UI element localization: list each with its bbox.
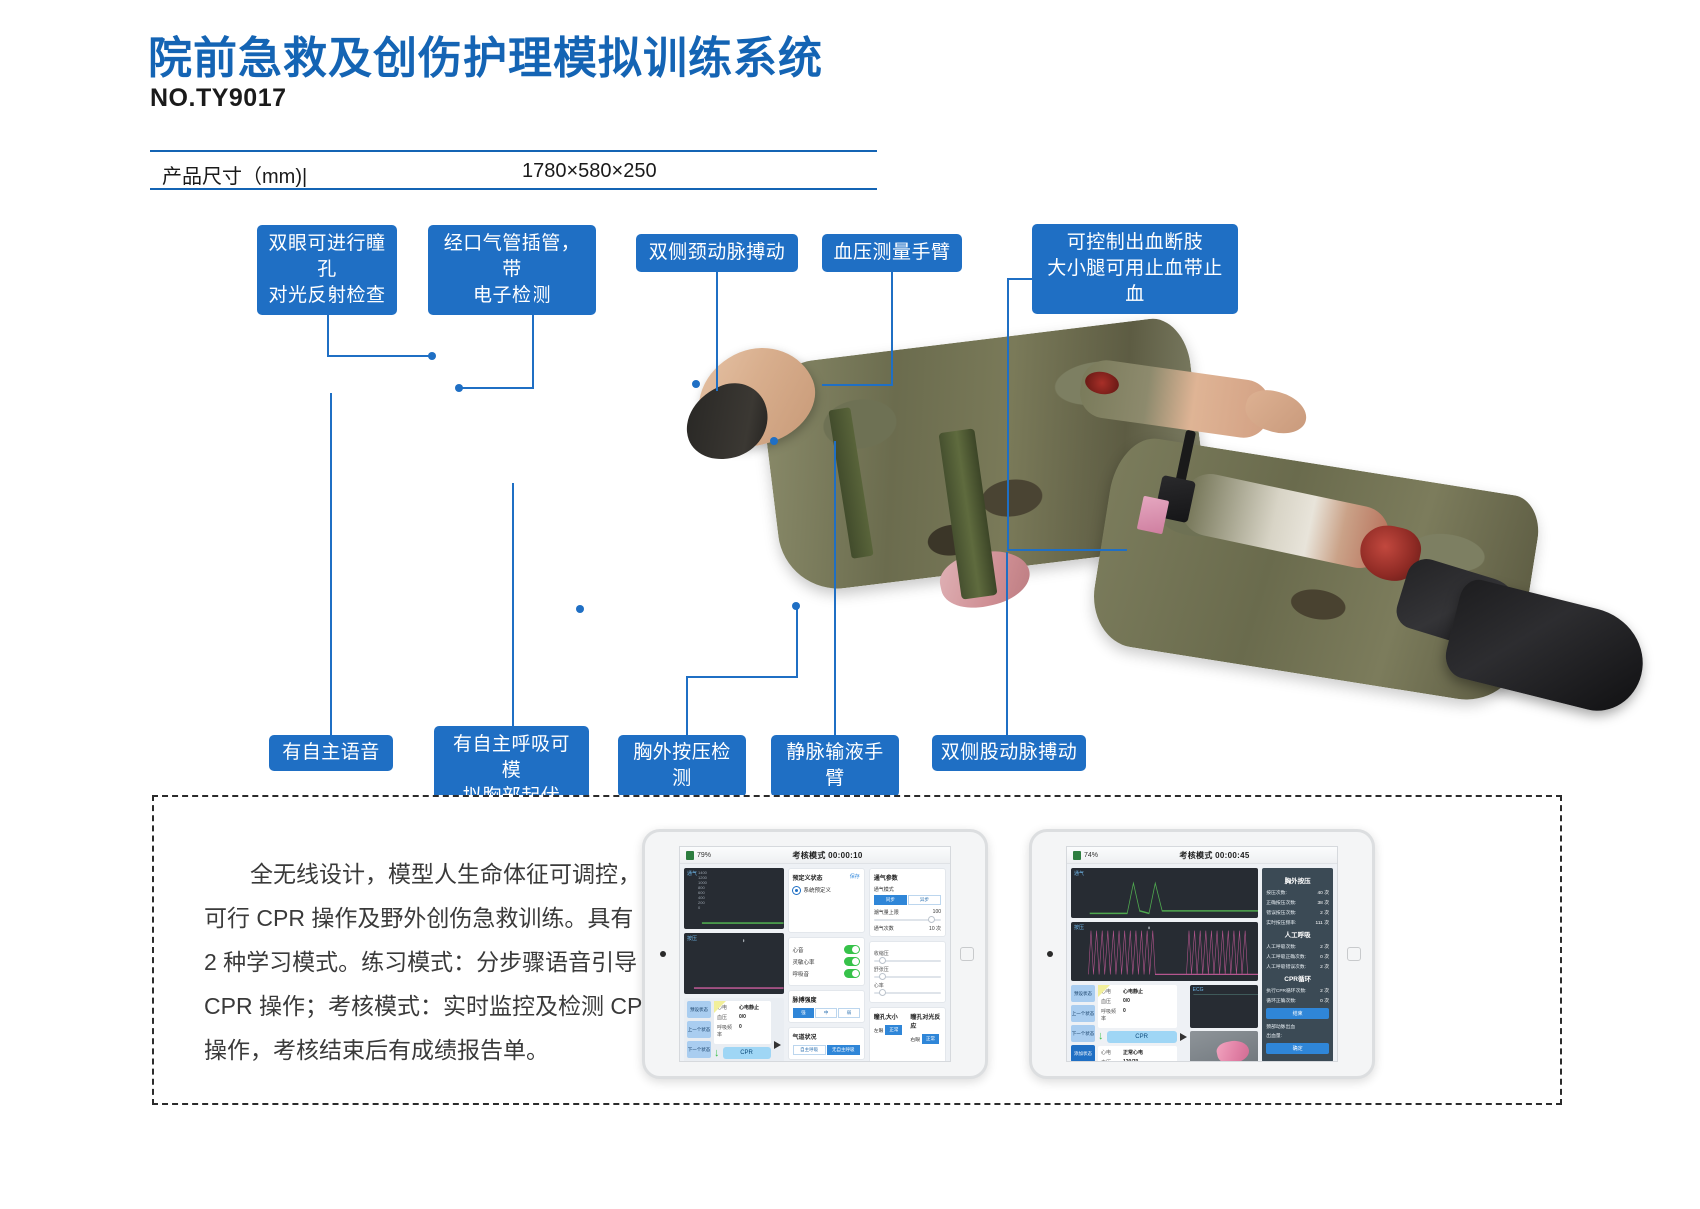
stat-breath-count-label: 人工呼吸次数: bbox=[1266, 943, 1296, 950]
card-pupil-settings: 瞳孔大小 左眼 正常 瞳孔对光反应 bbox=[869, 1007, 946, 1062]
tablet1-home-button[interactable] bbox=[960, 947, 974, 961]
radio-system-predef-label: 系统预定义 bbox=[804, 886, 832, 894]
seg-pulse-medium[interactable]: 中 bbox=[815, 1008, 837, 1018]
seg-spontaneous-breathing[interactable]: 自主呼吸 bbox=[793, 1045, 826, 1055]
pupil-right-value[interactable]: 正常 bbox=[922, 1034, 939, 1044]
leader-compression-v1 bbox=[686, 676, 688, 736]
card-bp-sliders: 收缩压 舒张压 心率 bbox=[869, 941, 946, 1003]
cpr-action-row-2: ↓ CPR bbox=[1098, 1031, 1177, 1043]
tablet1-statusbar: 79% 考核模式 00:00:10 bbox=[680, 847, 950, 864]
leader-bp-v bbox=[891, 268, 893, 386]
anchor-dot-carotid bbox=[692, 380, 700, 388]
card-airway-title: 气道状况 bbox=[793, 1032, 860, 1041]
toggle-label-hr: 灵敏心率 bbox=[793, 958, 815, 966]
anchor-dot-pupil bbox=[428, 352, 436, 360]
vital-key-bp-1: 血压 bbox=[717, 1014, 733, 1021]
stats-section2-title: 人工呼吸 bbox=[1266, 929, 1329, 939]
stat-cycle-correct-unit: 次 bbox=[1324, 999, 1329, 1004]
stat-breath-count-unit: 次 bbox=[1324, 945, 1329, 950]
card-pulse-title: 脉搏强度 bbox=[793, 995, 860, 1004]
tablet2-main-column: 通气 按压 bbox=[1071, 868, 1258, 1062]
tablet1-settings-column: 保存预定义状态 系统预定义 心音 bbox=[788, 868, 946, 1062]
desc-line-4: CPR 操作；考核模式：实时监控及检测 CPR bbox=[204, 993, 659, 1019]
spec-table: 产品尺寸（mm)| 1780×580×250 bbox=[150, 150, 877, 190]
pupil-reflex-title: 瞳孔对光反应 bbox=[910, 1012, 941, 1030]
pupil-left-label: 左眼 bbox=[874, 1027, 884, 1034]
stat-comp-wrong-unit: 次 bbox=[1324, 911, 1329, 916]
poster-page: 院前急救及创伤护理模拟训练系统 NO.TY9017 产品尺寸（mm)| 1780… bbox=[0, 0, 1700, 1209]
tablet1-panel-left: 保存预定义状态 系统预定义 心音 bbox=[788, 868, 865, 1062]
tablet1-screen[interactable]: 79% 考核模式 00:00:10 通气 1400 1200 1000 800 … bbox=[679, 846, 951, 1062]
callout-compression: 胸外按压检测 bbox=[618, 735, 746, 797]
card-ventilation-params: 通气参数 通气模式 同步 异步 潮气量上限 100 bbox=[869, 868, 946, 937]
compression-waveform-2: 按压 bbox=[1071, 922, 1258, 980]
tablet2-home-button[interactable] bbox=[1347, 947, 1361, 961]
systolic-slider-knob[interactable] bbox=[879, 957, 886, 964]
tablet1-mode-title: 考核模式 00:00:10 bbox=[711, 850, 944, 861]
ventilation-waveform-2: 通气 bbox=[1071, 868, 1258, 918]
vitals2-card-1: 心电心电静止 血压0/0 呼吸频率0 bbox=[1098, 985, 1177, 1028]
leader-compression-v2 bbox=[796, 605, 798, 677]
cpr-stats-panel: 胸外按压 按压次数:40 次 正确按压次数:38 次 错误按压次数:2 次 实时… bbox=[1262, 868, 1333, 1062]
vent-mode-label: 通气模式 bbox=[874, 886, 941, 893]
vent-rate-label: 通气次数 bbox=[874, 925, 894, 932]
tablet2-vitals-stack: 心电心电静止 血压0/0 呼吸频率0 ↓ CPR 心电正常心电 bbox=[1098, 985, 1177, 1062]
tablet2-battery-text: 74% bbox=[1084, 852, 1098, 859]
leader-pupil-v bbox=[327, 279, 329, 357]
stat-comp-correct-value: 38 bbox=[1318, 901, 1323, 906]
vital2-val-ecg-2: 正常心电 bbox=[1123, 1049, 1143, 1056]
ventilation-waveform: 通气 1400 1200 1000 800 600 400 200 0 bbox=[684, 868, 784, 929]
battery-icon bbox=[686, 851, 694, 860]
callout-femoral: 双侧股动脉搏动 bbox=[932, 735, 1086, 771]
bleeding-volume-label: 出血量: bbox=[1266, 1032, 1282, 1039]
description-text: 全无线设计，模型人生命体征可调控， 可行 CPR 操作及野外创伤急救训练。具有 … bbox=[204, 852, 674, 1072]
state-flag-icon-2 bbox=[1098, 985, 1110, 997]
vital-key-rr-1: 呼吸频率 bbox=[717, 1024, 733, 1038]
stat-breath-wrong-label: 人工呼吸错误次数: bbox=[1266, 963, 1306, 970]
cpr-button-2[interactable]: CPR bbox=[1107, 1031, 1177, 1043]
play-icon-1[interactable] bbox=[774, 1041, 781, 1049]
tablet2-body: 通气 按压 bbox=[1067, 864, 1337, 1062]
bleeding-title: 颈部动脉出血 bbox=[1266, 1023, 1329, 1030]
stat-breath-correct-unit: 次 bbox=[1324, 955, 1329, 960]
ecg-waveform: ECG bbox=[1190, 985, 1259, 1029]
glove-shape bbox=[1215, 1038, 1250, 1062]
tablet2-ecg-column: ECG bbox=[1190, 985, 1259, 1062]
seg-vent-sync[interactable]: 同步 bbox=[874, 895, 907, 905]
vital-val-ecg-1: 心电静止 bbox=[739, 1004, 759, 1011]
leader-bleed-h bbox=[1007, 549, 1127, 551]
callout-carotid: 双侧颈动脉搏动 bbox=[636, 234, 798, 272]
stats-section3-title: CPR循环 bbox=[1266, 973, 1329, 983]
card-airway-status: 气道状况 自主呼吸 无自主呼吸 bbox=[788, 1027, 865, 1060]
seg-pulse-strong[interactable]: 强 bbox=[793, 1008, 815, 1018]
tablet1-camera-icon bbox=[660, 951, 666, 957]
desc-line-5: 操作，考核结束后有成绩报告单。 bbox=[204, 1037, 549, 1063]
spec-label: 产品尺寸（mm)| bbox=[162, 160, 307, 189]
toggle-label-heartsound: 心音 bbox=[793, 946, 804, 954]
btn2-prev-state[interactable]: 上一个状态 bbox=[1071, 1005, 1095, 1022]
stat-breath-correct-label: 人工呼吸正确次数: bbox=[1266, 953, 1306, 960]
callout-intubation: 经口气管插管，带 电子检测 bbox=[428, 225, 596, 315]
vital-val-bp-1: 0/0 bbox=[739, 1014, 746, 1021]
stat-cycle-correct-label: 循环正确次数: bbox=[1266, 997, 1296, 1004]
arrow-down-icon-2: ↓ bbox=[1098, 1031, 1104, 1042]
stat-comp-rate-label: 实时按压频率: bbox=[1266, 919, 1296, 926]
compression-trace-2 bbox=[1071, 922, 1258, 980]
vitals-card-1: 心电心电静止 血压0/0 呼吸频率0 bbox=[714, 1001, 771, 1044]
tablet1-body: 通气 1400 1200 1000 800 600 400 200 0 按压 bbox=[680, 864, 950, 1062]
stat-comp-wrong-value: 2 bbox=[1320, 911, 1323, 916]
battery-icon-2 bbox=[1073, 851, 1081, 860]
tablet2-control-box: 预设状态 上一个状态 下一个状态 添加状态 心电心电静止 血压0/0 bbox=[1071, 985, 1258, 1062]
pupil-right-label: 右眼 bbox=[910, 1036, 920, 1043]
card-pulse-strength: 脉搏强度 强 中 弱 bbox=[788, 990, 865, 1023]
stats-end-button[interactable]: 结束 bbox=[1266, 1008, 1329, 1019]
vent-rate-unit: 次 bbox=[936, 926, 941, 932]
stat-cycle-count-label: 执行CPR循环次数: bbox=[1266, 987, 1306, 994]
vital2-val-ecg-1: 心电静止 bbox=[1123, 988, 1143, 995]
tablet2-statusbar: 74% 考核模式 00:00:45 bbox=[1067, 847, 1337, 864]
stat-comp-wrong-label: 错误按压次数: bbox=[1266, 909, 1296, 916]
btn-next-state[interactable]: 下一个状态 bbox=[687, 1041, 711, 1058]
leader-compression-h bbox=[686, 676, 798, 678]
desc-line-1: 全无线设计，模型人生命体征可调控， bbox=[250, 861, 641, 887]
ecg-label: ECG bbox=[1193, 987, 1204, 993]
hr-slider[interactable] bbox=[874, 992, 941, 994]
save-link[interactable]: 保存 bbox=[850, 873, 860, 880]
vital2-key-bp-2: 血压 bbox=[1101, 1059, 1117, 1062]
stat-breath-correct-value: 0 bbox=[1320, 955, 1323, 960]
pupil-left-value[interactable]: 正常 bbox=[885, 1025, 902, 1035]
toggle-breathsound[interactable] bbox=[844, 969, 860, 978]
stat-comp-rate-unit: 次 bbox=[1324, 921, 1329, 926]
vital2-val-bp-1: 0/0 bbox=[1123, 998, 1130, 1005]
vitals2-card-2: 心电正常心电 血压120/70 呼吸频率16 bbox=[1098, 1046, 1177, 1062]
vent-rate-value: 10 bbox=[929, 926, 935, 932]
cpr-button-1[interactable]: CPR bbox=[723, 1047, 771, 1059]
tidal-slider[interactable] bbox=[874, 919, 941, 921]
vital-val-rr-1: 0 bbox=[739, 1024, 742, 1038]
anchor-dot-compression bbox=[792, 602, 800, 610]
product-model: NO.TY9017 bbox=[150, 84, 287, 113]
stat-cycle-count-unit: 次 bbox=[1324, 989, 1329, 994]
leader-intubation-h bbox=[460, 387, 534, 389]
anchor-dot-bp bbox=[770, 437, 778, 445]
pupil-size-title: 瞳孔大小 bbox=[874, 1012, 905, 1021]
hr-slider-knob[interactable] bbox=[879, 989, 886, 996]
desc-line-3: 2 种学习模式。练习模式：分步骤语音引导 bbox=[204, 949, 637, 975]
ventilation-trace bbox=[684, 868, 784, 929]
leader-femoral-v bbox=[1006, 552, 1008, 736]
stat-comp-count-value: 40 bbox=[1318, 891, 1323, 896]
btn2-preset-state[interactable]: 预设状态 bbox=[1071, 985, 1095, 1002]
leader-voice-v bbox=[330, 393, 332, 736]
toggle-label-breathsound: 呼吸音 bbox=[793, 970, 810, 978]
card-predef-title: 预定义状态 bbox=[793, 876, 823, 882]
tidal-value: 100 bbox=[933, 909, 941, 916]
seg-no-spontaneous-breathing[interactable]: 无自主呼吸 bbox=[827, 1045, 860, 1055]
card-vent-title: 通气参数 bbox=[874, 873, 941, 882]
ventilation-trace-2 bbox=[1071, 868, 1258, 918]
stat-breath-count-value: 2 bbox=[1320, 945, 1323, 950]
spec-value: 1780×580×250 bbox=[522, 160, 657, 183]
leader-breathing-v bbox=[512, 483, 514, 728]
stat-comp-correct-unit: 次 bbox=[1324, 901, 1329, 906]
tablet1-waveform-column: 通气 1400 1200 1000 800 600 400 200 0 按压 bbox=[684, 868, 784, 1062]
play-icon-2[interactable] bbox=[1180, 1033, 1187, 1041]
callout-voice: 有自主语音 bbox=[269, 735, 393, 771]
stats-section1-title: 胸外按压 bbox=[1266, 875, 1329, 885]
compression-waveform: 按压 bbox=[684, 933, 784, 994]
btn2-add-state[interactable]: 添加状态 bbox=[1071, 1045, 1095, 1062]
toggle-hr[interactable] bbox=[844, 957, 860, 966]
leader-bp-h bbox=[822, 384, 892, 386]
diastolic-slider[interactable] bbox=[874, 976, 941, 978]
anchor-dot-intubation bbox=[455, 384, 463, 392]
stat-cycle-count-value: 2 bbox=[1320, 989, 1323, 994]
callout-bleeding-limb: 可控制出血断肢 大小腿可用止血带止血 bbox=[1032, 224, 1238, 314]
callout-iv-arm: 静脉输液手臂 bbox=[771, 735, 899, 797]
vital2-key-bp-1: 血压 bbox=[1101, 998, 1117, 1005]
page-title: 院前急救及创伤护理模拟训练系统 bbox=[148, 22, 823, 86]
tidal-label: 潮气量上限 bbox=[874, 909, 899, 916]
tablet1-state-buttons: 预设状态 上一个状态 下一个状态 添加状态 bbox=[687, 1001, 711, 1062]
leader-carotid-v bbox=[716, 268, 718, 391]
state-flag-icon bbox=[714, 1001, 726, 1013]
tablet1-battery-text: 79% bbox=[697, 852, 711, 859]
toggle-heartsound[interactable] bbox=[844, 945, 860, 954]
leader-pupil-h bbox=[327, 355, 432, 357]
seg-pulse-weak[interactable]: 弱 bbox=[838, 1008, 860, 1018]
btn-prev-state[interactable]: 上一个状态 bbox=[687, 1021, 711, 1038]
stat-breath-wrong-unit: 次 bbox=[1324, 965, 1329, 970]
tablet2-camera-icon bbox=[1047, 951, 1053, 957]
leader-iv-v bbox=[834, 441, 836, 736]
card-sound-toggles: 心音 灵敏心率 呼吸音 bbox=[788, 937, 865, 986]
stat-cycle-correct-value: 0 bbox=[1320, 999, 1323, 1004]
vital2-val-rr-1: 0 bbox=[1123, 1008, 1126, 1022]
vital2-key-ecg-2: 心电 bbox=[1101, 1049, 1117, 1056]
tidal-slider-knob[interactable] bbox=[928, 916, 935, 923]
tablet-device-1[interactable]: 79% 考核模式 00:00:10 通气 1400 1200 1000 800 … bbox=[642, 829, 988, 1079]
cpr-action-row: ↓ CPR bbox=[714, 1047, 771, 1059]
tablet1-vitals-stack: 心电心电静止 血压0/0 呼吸频率0 ↓ CPR 心电正常心电 bbox=[714, 1001, 771, 1062]
stat-breath-wrong-value: 2 bbox=[1320, 965, 1323, 970]
radio-system-predef-icon[interactable] bbox=[793, 887, 800, 894]
vital2-key-rr-1: 呼吸频率 bbox=[1101, 1008, 1117, 1022]
btn-preset-state[interactable]: 预设状态 bbox=[687, 1001, 711, 1018]
leader-bleed-v bbox=[1007, 278, 1009, 551]
vital2-val-bp-2: 120/70 bbox=[1123, 1059, 1138, 1062]
bottom-info-panel: 全无线设计，模型人生命体征可调控， 可行 CPR 操作及野外创伤急救训练。具有 … bbox=[152, 795, 1562, 1105]
stat-comp-rate-value: 111 bbox=[1316, 921, 1323, 926]
tablet1-control-box: 预设状态 上一个状态 下一个状态 添加状态 心电心电静止 血压0/0 bbox=[684, 998, 784, 1062]
anchor-dot-breathing bbox=[576, 605, 584, 613]
bleeding-confirm-button[interactable]: 确定 bbox=[1266, 1043, 1329, 1054]
tablet2-screen[interactable]: 74% 考核模式 00:00:45 通气 按压 bbox=[1066, 846, 1338, 1062]
arrow-down-icon: ↓ bbox=[714, 1048, 720, 1059]
compression-trace bbox=[684, 933, 784, 994]
card-predefined-state: 保存预定义状态 系统预定义 bbox=[788, 868, 865, 933]
tablet-device-2[interactable]: 74% 考核模式 00:00:45 通气 按压 bbox=[1029, 829, 1375, 1079]
cpr-hands-photo bbox=[1190, 1031, 1259, 1062]
desc-line-2: 可行 CPR 操作及野外创伤急救训练。具有 bbox=[204, 905, 633, 931]
tablet2-mode-title: 考核模式 00:00:45 bbox=[1098, 850, 1331, 861]
tablet2-state-buttons: 预设状态 上一个状态 下一个状态 添加状态 bbox=[1071, 985, 1095, 1062]
leader-intubation-v bbox=[532, 279, 534, 389]
leader-bleed-h-top bbox=[1007, 278, 1033, 280]
systolic-slider[interactable] bbox=[874, 960, 941, 962]
stat-comp-count-unit: 次 bbox=[1324, 891, 1329, 896]
btn2-next-state[interactable]: 下一个状态 bbox=[1071, 1025, 1095, 1042]
seg-vent-async[interactable]: 异步 bbox=[908, 895, 941, 905]
tablet1-panel-right: 通气参数 通气模式 同步 异步 潮气量上限 100 bbox=[869, 868, 946, 1062]
diastolic-slider-knob[interactable] bbox=[879, 973, 886, 980]
stat-comp-correct-label: 正确按压次数: bbox=[1266, 899, 1296, 906]
btn-add-state[interactable]: 添加状态 bbox=[687, 1061, 711, 1062]
callout-bp-arm: 血压测量手臂 bbox=[822, 234, 962, 272]
stat-comp-count-label: 按压次数: bbox=[1266, 889, 1287, 896]
